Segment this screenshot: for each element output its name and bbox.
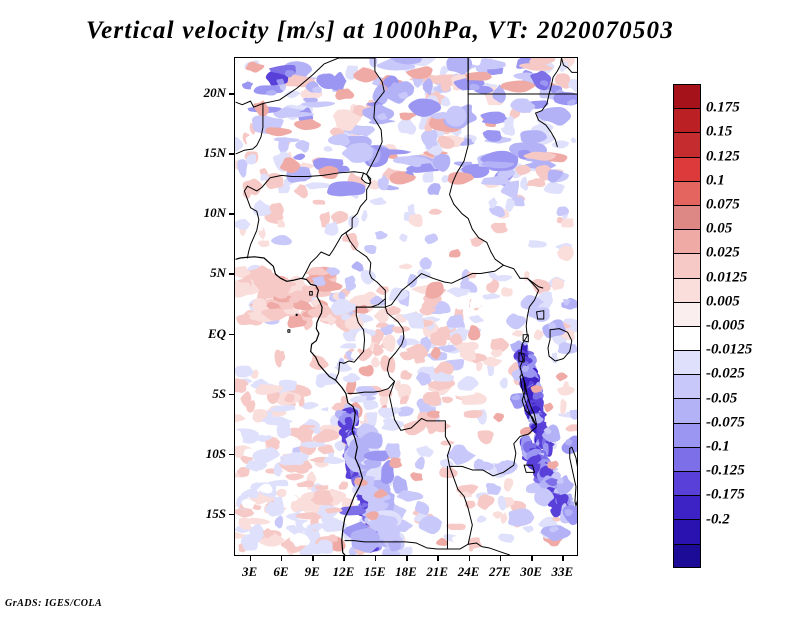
colorbar-swatch-14 [673,423,701,447]
x-axis-label-33E: 33E [552,564,574,580]
x-axis-label-15E: 15E [364,564,386,580]
cbar-label-11: -0.025 [706,366,745,383]
cbar-label-6: 0.025 [706,245,740,262]
y-tick [229,454,234,456]
x-tick [437,556,439,561]
x-axis-label-6E: 6E [273,564,288,580]
x-tick [343,556,345,561]
colorbar-swatch-2 [673,132,701,156]
cbar-label-16: -0.175 [706,487,745,504]
y-axis-label-5S: 5S [182,386,226,402]
x-tick [250,556,252,561]
page-title: Vertical velocity [m/s] at 1000hPa, VT: … [0,17,760,45]
x-axis-label-30E: 30E [520,564,542,580]
cbar-label-5: 0.05 [706,221,732,238]
x-tick [312,556,314,561]
y-tick [229,394,234,396]
x-axis-label-12E: 12E [333,564,355,580]
cbar-label-4: 0.075 [706,197,740,214]
x-tick [531,556,533,561]
x-tick [562,556,564,561]
y-tick [229,273,234,275]
colorbar-swatch-7 [673,253,701,277]
colorbar-swatch-19 [673,544,701,568]
colorbar-swatch-9 [673,302,701,326]
y-tick [229,213,234,215]
colorbar-swatches [673,84,701,568]
colorbar-swatch-0 [673,84,701,108]
grads-plot-canvas: Vertical velocity [m/s] at 1000hPa, VT: … [0,0,800,618]
y-tick [229,93,234,95]
x-axis-label-21E: 21E [426,564,448,580]
cbar-label-13: -0.075 [706,414,745,431]
colorbar-swatch-11 [673,350,701,374]
colorbar-swatch-17 [673,495,701,519]
x-axis-label-24E: 24E [458,564,480,580]
cbar-label-2: 0.125 [706,148,740,165]
y-tick [229,334,234,336]
y-axis-label-15S: 15S [182,506,226,522]
colorbar-swatch-1 [673,108,701,132]
map-shading-and-coastlines [235,58,577,555]
cbar-label-9: -0.005 [706,318,745,335]
colorbar-swatch-18 [673,519,701,543]
y-axis-label-20N: 20N [182,85,226,101]
colorbar-swatch-8 [673,278,701,302]
cbar-label-12: -0.05 [706,390,737,407]
y-axis-label-5N: 5N [182,265,226,281]
x-tick [281,556,283,561]
y-axis-label-10S: 10S [182,446,226,462]
cbar-label-7: 0.0125 [706,269,747,286]
x-axis-label-27E: 27E [489,564,511,580]
x-axis-label-3E: 3E [242,564,257,580]
y-axis-label-EQ: EQ [182,326,226,342]
colorbar-swatch-5 [673,205,701,229]
colorbar-swatch-6 [673,229,701,253]
colorbar-swatch-13 [673,398,701,422]
colorbar-swatch-10 [673,326,701,350]
y-tick [229,514,234,516]
x-tick [469,556,471,561]
cbar-label-14: -0.1 [706,439,730,456]
colorbar-swatch-16 [673,471,701,495]
cbar-label-15: -0.125 [706,463,745,480]
colorbar-swatch-4 [673,181,701,205]
colorbar-swatch-3 [673,157,701,181]
cbar-label-3: 0.1 [706,172,725,189]
x-tick [406,556,408,561]
colorbar-swatch-12 [673,374,701,398]
grads-credit: GrADS: IGES/COLA [5,598,102,609]
cbar-label-0: 0.175 [706,100,740,117]
x-tick [500,556,502,561]
y-axis-label-15N: 15N [182,145,226,161]
cbar-label-1: 0.15 [706,124,732,141]
y-axis-label-10N: 10N [182,205,226,221]
cbar-label-17: -0.2 [706,511,730,528]
colorbar-swatch-15 [673,447,701,471]
map-plot-area [234,57,578,556]
x-axis-label-18E: 18E [395,564,417,580]
y-tick [229,153,234,155]
x-tick [375,556,377,561]
cbar-label-8: 0.005 [706,293,740,310]
cbar-label-10: -0.0125 [706,342,752,359]
x-axis-label-9E: 9E [305,564,320,580]
